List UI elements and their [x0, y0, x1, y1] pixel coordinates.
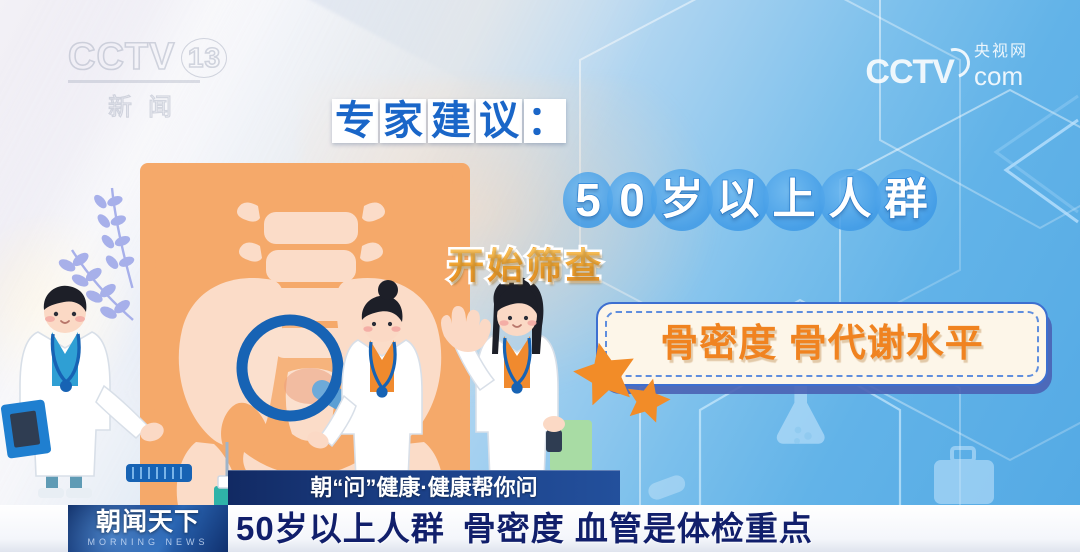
watermark-arc-icon [935, 43, 976, 84]
topic-bar: 朝“问”健康·健康帮你问 [228, 470, 620, 505]
headline-part-2: 骨密度 血管是体检重点 [463, 512, 813, 545]
pill-strip [126, 464, 192, 482]
highlight-box-graphic: 骨密度 骨代谢水平 [596, 302, 1048, 386]
expert-char: 议 [479, 101, 519, 141]
start-screening-fill: 开始筛查 [448, 248, 604, 284]
expert-char: 建 [431, 101, 471, 141]
watermark-left: CCTV [865, 55, 954, 89]
expert-char-cell: ： [524, 99, 566, 143]
expert-char: 家 [383, 101, 423, 141]
age-char: 0 [619, 177, 645, 223]
expert-advice-graphic: 专 家 建 议 ： [332, 99, 566, 143]
watermark-cctv-text: CCTV [865, 53, 954, 91]
age-bubble: 以 [710, 166, 766, 234]
watermark-com-text: com [974, 63, 1028, 89]
program-logo-cn: 朝闻天下 [96, 510, 200, 535]
age-char: 岁 [661, 179, 704, 222]
watermark-right: 央视网 com [974, 44, 1028, 89]
highlight-box-plate: 骨密度 骨代谢水平 [596, 302, 1048, 386]
start-screening-graphic: 开始筛查 开始筛查 [448, 248, 604, 284]
expert-char-cell: 家 [380, 99, 426, 143]
watermark-cn-text: 央视网 [974, 44, 1028, 60]
program-logo: 朝闻天下 MORNING NEWS [68, 505, 228, 552]
age-char: 人 [829, 179, 872, 222]
expert-colon: ： [527, 101, 563, 141]
headline-part-1: 50岁以上人群 [236, 512, 445, 545]
topic-bar-text: 朝“问”健康·健康帮你问 [310, 477, 537, 499]
program-logo-en: MORNING NEWS [88, 538, 209, 547]
age-bubble: 群 [878, 166, 934, 234]
age-group-graphic: 5 0 岁 以 上 人 群 [566, 166, 934, 234]
broadcast-frame: CCTV 13 新闻 CCTV 央视网 com 专 家 建 议 ： 5 0 岁 … [0, 0, 1080, 552]
highlight-box-text: 骨密度 骨代谢水平 [660, 325, 984, 363]
age-char: 以 [717, 179, 760, 222]
age-bubble: 0 [610, 166, 654, 234]
headline-text: 50岁以上人群 骨密度 血管是体检重点 [236, 505, 813, 552]
age-char: 上 [773, 179, 816, 222]
age-char: 5 [575, 177, 601, 223]
expert-char-cell: 议 [476, 99, 522, 143]
age-bubble: 岁 [654, 166, 710, 234]
expert-char-cell: 专 [332, 99, 378, 143]
age-bubble: 上 [766, 166, 822, 234]
cctv-com-watermark: CCTV 央视网 com [865, 44, 1028, 89]
expert-char-cell: 建 [428, 99, 474, 143]
age-char: 群 [885, 179, 928, 222]
expert-char: 专 [335, 101, 375, 141]
age-bubble: 5 [566, 166, 610, 234]
age-bubble: 人 [822, 166, 878, 234]
